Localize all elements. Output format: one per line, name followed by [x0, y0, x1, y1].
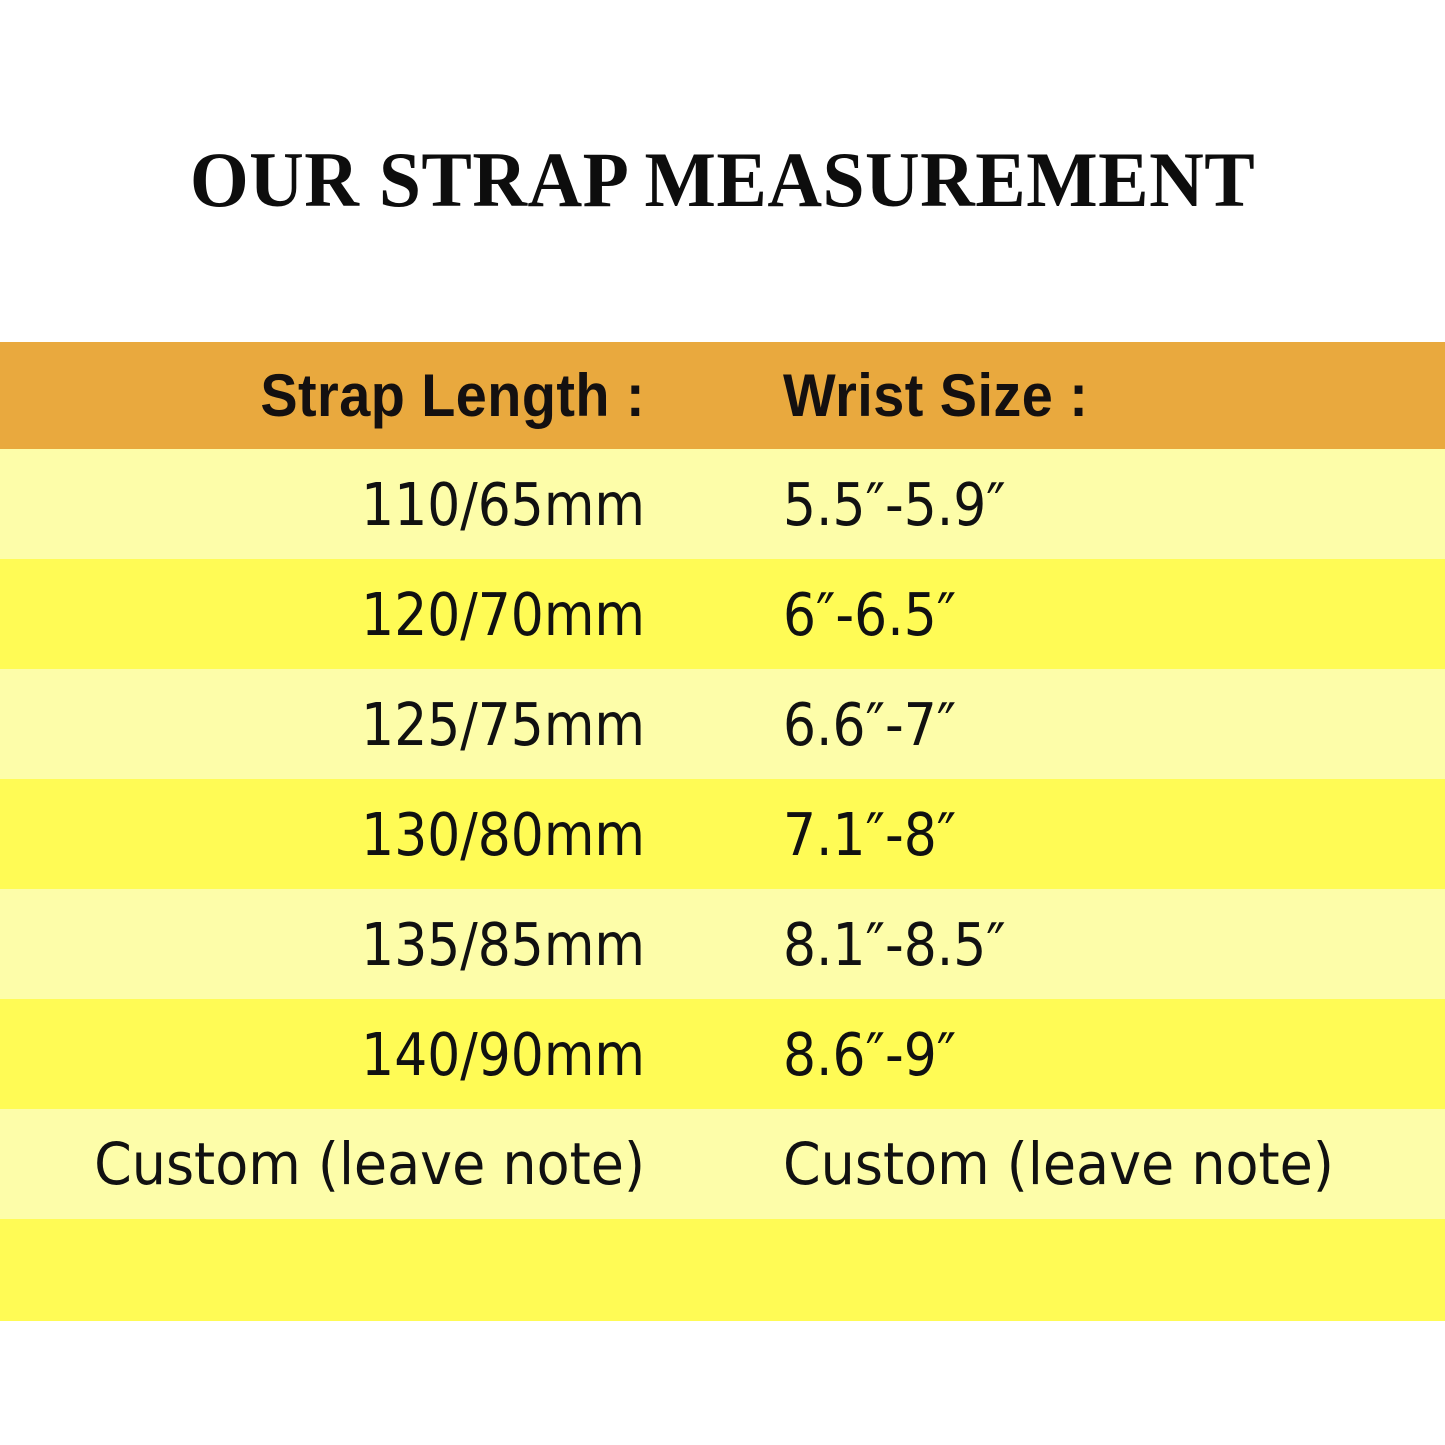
table-header-row: Strap Length : Wrist Size : — [0, 342, 1445, 449]
cell-strap-length: 140/90mm — [77, 1025, 645, 1084]
cell-wrist-size: 8.6″-9″ — [783, 1025, 1329, 1084]
cell-wrist-size: 6.6″-7″ — [783, 695, 1329, 754]
cell-strap-length: 110/65mm — [77, 475, 645, 534]
cell-strap-length-custom: Custom (leave note) — [45, 1135, 645, 1193]
strap-measurement-chart: OUR STRAP MEASUREMENT Strap Length : Wri… — [0, 0, 1445, 1445]
table-trailing-band — [0, 1219, 1445, 1321]
cell-strap-length: 130/80mm — [77, 805, 645, 864]
column-header-wrist-size: Wrist Size : — [783, 366, 1360, 426]
table-row: 120/70mm 6″-6.5″ — [0, 559, 1445, 669]
cell-wrist-size: 8.1″-8.5″ — [783, 915, 1329, 974]
table-row: 110/65mm 5.5″-5.9″ — [0, 449, 1445, 559]
table-row: 130/80mm 7.1″-8″ — [0, 779, 1445, 889]
cell-strap-length: 135/85mm — [77, 915, 645, 974]
cell-strap-length: 125/75mm — [77, 695, 645, 754]
table-row: 125/75mm 6.6″-7″ — [0, 669, 1445, 779]
cell-wrist-size-custom: Custom (leave note) — [783, 1135, 1360, 1193]
column-header-strap-length: Strap Length : — [45, 366, 645, 426]
table-row: 140/90mm 8.6″-9″ — [0, 999, 1445, 1109]
table-row: 135/85mm 8.1″-8.5″ — [0, 889, 1445, 999]
cell-wrist-size: 5.5″-5.9″ — [783, 475, 1329, 534]
page-title: OUR STRAP MEASUREMENT — [22, 134, 1424, 226]
cell-wrist-size: 7.1″-8″ — [783, 805, 1329, 864]
cell-strap-length: 120/70mm — [77, 585, 645, 644]
cell-wrist-size: 6″-6.5″ — [783, 585, 1329, 644]
measurement-table: Strap Length : Wrist Size : 110/65mm 5.5… — [0, 342, 1445, 1321]
table-row-custom: Custom (leave note) Custom (leave note) — [0, 1109, 1445, 1219]
